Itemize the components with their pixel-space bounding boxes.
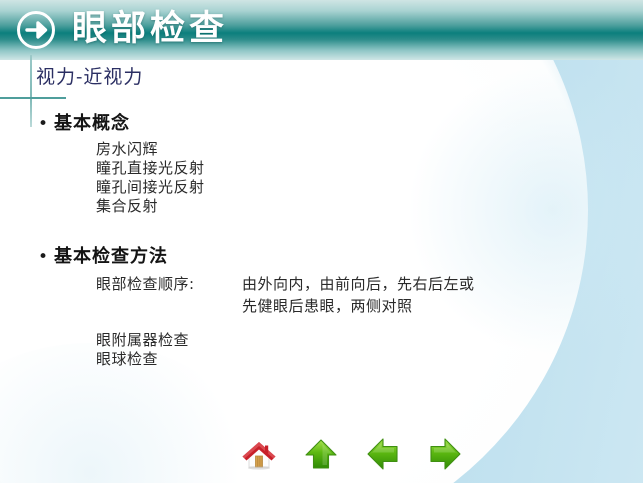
- bullet-icon: •: [38, 116, 54, 133]
- arrow-left-icon[interactable]: [362, 433, 404, 475]
- examination-order-line: 由外向内，由前向后，先右后左或: [242, 273, 643, 295]
- slide-canvas: 眼部检查 视力-近视力 • 基本概念 房水闪辉 瞳孔直接光反射 瞳孔间接光反射 …: [0, 0, 643, 483]
- slide-subtitle: 视力-近视力: [36, 62, 143, 89]
- section-title: 基本概念: [54, 109, 130, 135]
- slide-body: • 基本概念 房水闪辉 瞳孔直接光反射 瞳孔间接光反射 集合反射 • 基本检查方…: [0, 105, 643, 369]
- section-item-list: 房水闪辉 瞳孔直接光反射 瞳孔间接光反射 集合反射: [96, 140, 643, 216]
- subtitle-horizontal-rule: [0, 97, 66, 99]
- examination-order-label: 眼部检查顺序:: [96, 273, 242, 295]
- examination-order-value: 由外向内，由前向后，先右后左或 先健眼后患眼，两侧对照: [242, 273, 643, 317]
- slide-header: 眼部检查: [0, 0, 643, 60]
- home-icon[interactable]: [238, 433, 280, 475]
- circle-arrow-right-icon: [15, 9, 57, 51]
- section-item-list: 眼附属器检查 眼球检查: [96, 331, 643, 369]
- page-title: 眼部检查: [72, 2, 228, 56]
- section-basic-examination-methods: • 基本检查方法 眼部检查顺序: 由外向内，由前向后，先右后左或 先健眼后患眼，…: [0, 242, 643, 369]
- section-heading: • 基本检查方法: [38, 242, 643, 268]
- navigation-bar: [238, 430, 448, 478]
- list-item: 集合反射: [96, 197, 643, 216]
- bullet-icon: •: [38, 249, 54, 266]
- examination-order-row: 眼部检查顺序: 由外向内，由前向后，先右后左或 先健眼后患眼，两侧对照: [96, 273, 643, 317]
- section-title: 基本检查方法: [54, 242, 168, 268]
- list-item: 眼球检查: [96, 350, 643, 369]
- examination-order-line: 先健眼后患眼，两侧对照: [242, 295, 643, 317]
- list-item: 眼附属器检查: [96, 331, 643, 350]
- list-item: 瞳孔间接光反射: [96, 178, 643, 197]
- arrow-up-icon[interactable]: [300, 433, 342, 475]
- section-basic-concepts: • 基本概念 房水闪辉 瞳孔直接光反射 瞳孔间接光反射 集合反射: [0, 109, 643, 216]
- list-item: 瞳孔直接光反射: [96, 159, 643, 178]
- arrow-right-icon[interactable]: [424, 433, 466, 475]
- section-heading: • 基本概念: [38, 109, 643, 135]
- list-item: 房水闪辉: [96, 140, 643, 159]
